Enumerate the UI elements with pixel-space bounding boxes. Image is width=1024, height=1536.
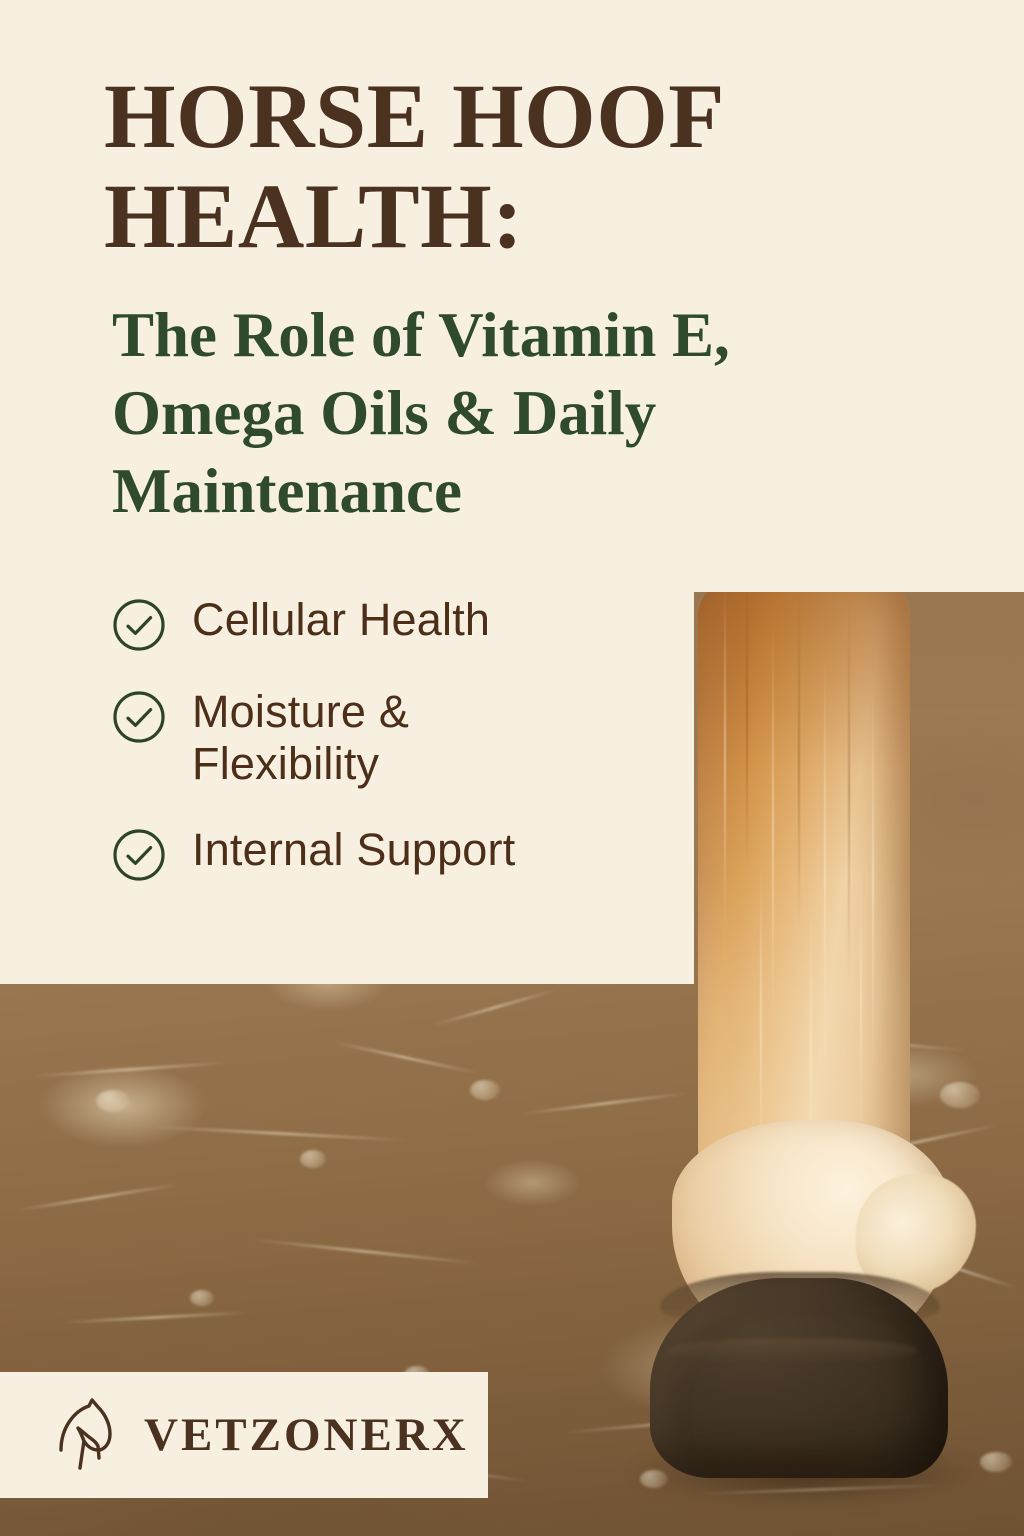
horse-head-icon xyxy=(58,1398,120,1472)
brand-name: VETZONERX xyxy=(144,1408,469,1462)
check-circle-icon xyxy=(112,598,166,652)
benefits-list: Cellular Health Moisture & Flexibility I… xyxy=(112,594,672,916)
list-item: Internal Support xyxy=(112,824,672,882)
poster-canvas: HORSE HOOF HEALTH: The Role of Vitamin E… xyxy=(0,0,1024,1536)
benefit-label: Moisture & Flexibility xyxy=(192,686,522,790)
check-circle-icon xyxy=(112,828,166,882)
benefit-label: Internal Support xyxy=(192,824,515,876)
hoof-growth-ring xyxy=(668,1338,918,1364)
page-subtitle: The Role of Vitamin E, Omega Oils & Dail… xyxy=(112,296,872,530)
brand-logo-badge[interactable]: VETZONERX xyxy=(0,1372,488,1498)
list-item: Moisture & Flexibility xyxy=(112,686,672,790)
page-title: HORSE HOOF HEALTH: xyxy=(104,66,894,266)
check-circle-icon xyxy=(112,690,166,744)
list-item: Cellular Health xyxy=(112,594,672,652)
benefit-label: Cellular Health xyxy=(192,594,490,646)
hoof-ground-shadow xyxy=(630,1440,980,1506)
